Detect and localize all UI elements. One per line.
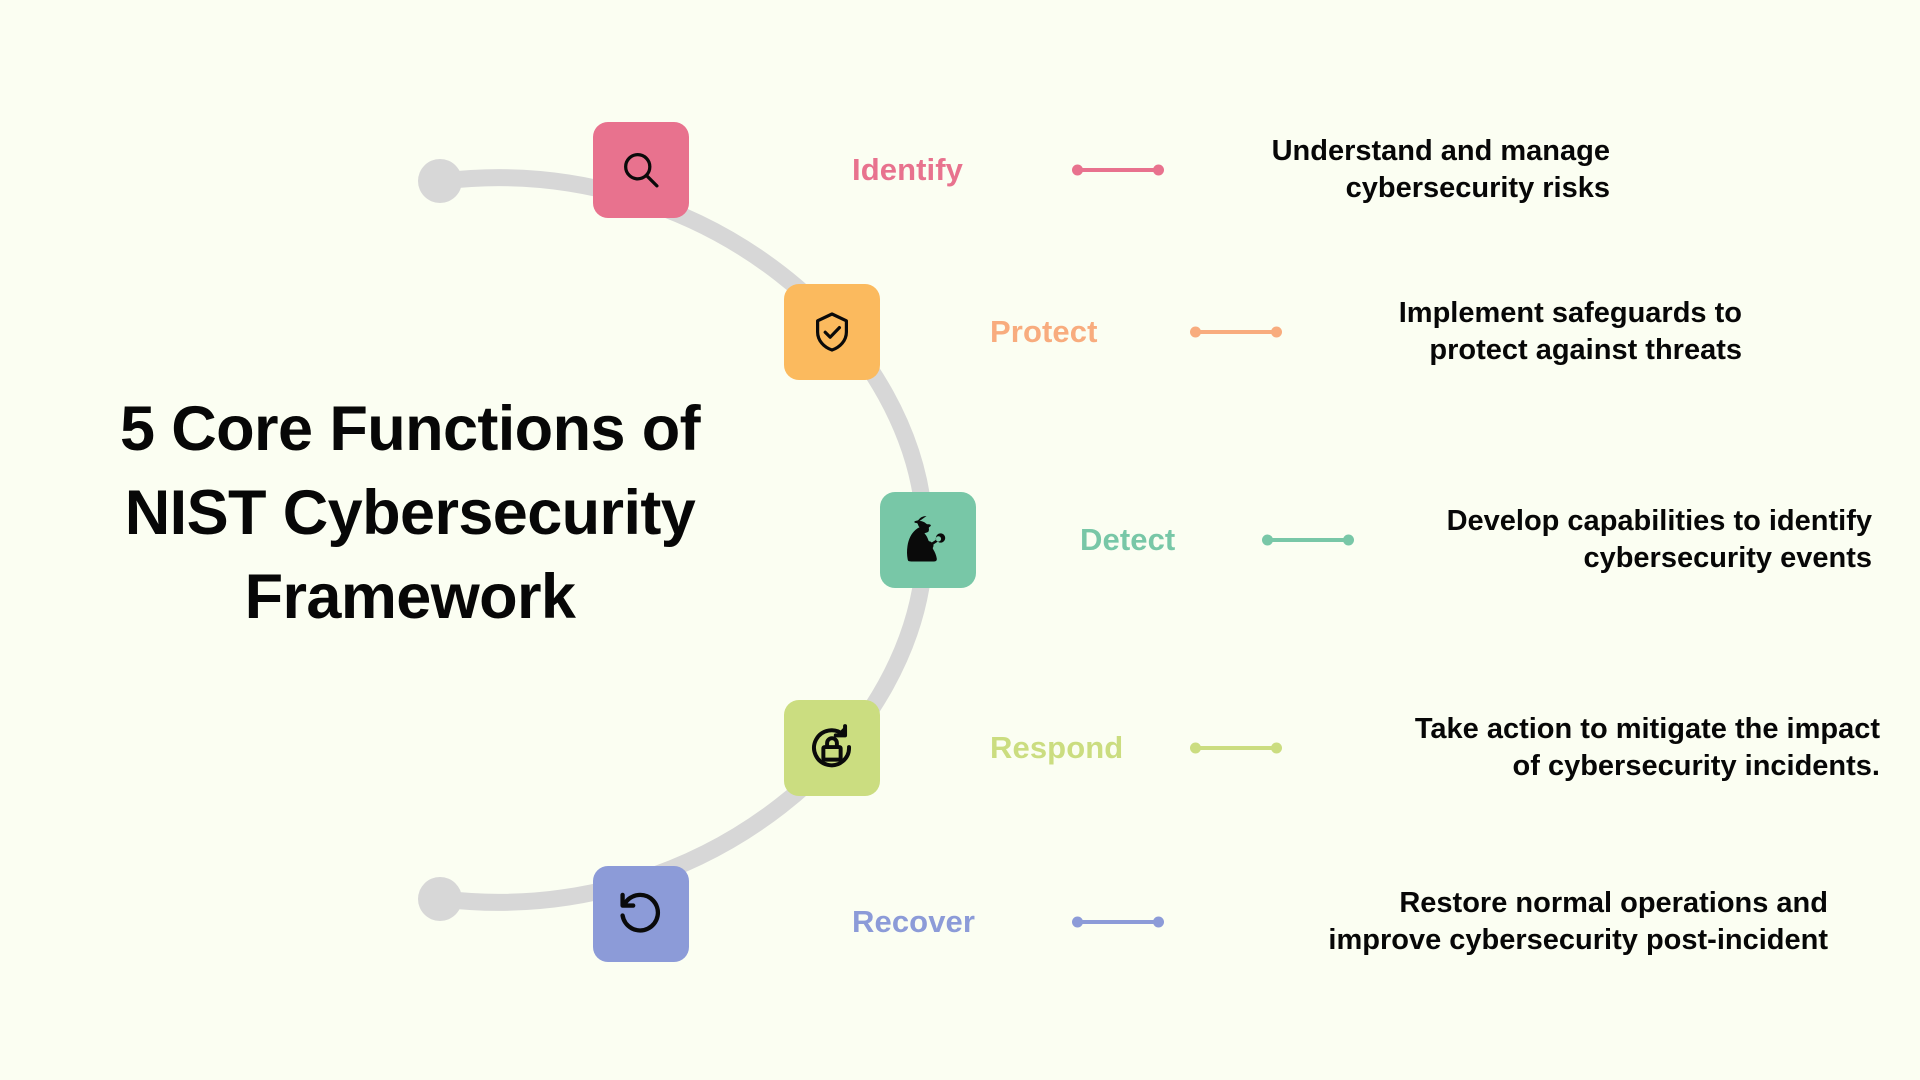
function-description-detect: Develop capabilities to identify cyberse…: [1447, 503, 1872, 577]
desc-line-2: cybersecurity events: [1447, 540, 1872, 577]
title-line-2: NIST Cybersecurity: [60, 472, 760, 556]
connector-recover: [1072, 915, 1164, 929]
function-description-recover: Restore normal operations and improve cy…: [1328, 885, 1828, 959]
connector-dot-left: [1190, 743, 1201, 754]
desc-line-1: Implement safeguards to: [1399, 295, 1742, 332]
arc-endpoint-top: [418, 159, 462, 203]
magnifying-glass-icon: [618, 147, 664, 193]
title-line-3: Framework: [60, 556, 760, 640]
connector-dot-left: [1262, 535, 1273, 546]
lock-refresh-icon: [804, 720, 860, 776]
desc-line-1: Understand and manage: [1272, 133, 1610, 170]
function-tile-respond[interactable]: [784, 700, 880, 796]
connector-bar: [1194, 330, 1278, 334]
desc-line-2: improve cybersecurity post-incident: [1328, 922, 1828, 959]
function-label-respond: Respond: [990, 730, 1123, 766]
connector-dot-right: [1343, 535, 1354, 546]
function-description-identify: Understand and manage cybersecurity risk…: [1272, 133, 1610, 207]
shield-check-icon: [808, 308, 856, 356]
connector-bar: [1194, 746, 1278, 750]
function-label-detect: Detect: [1080, 522, 1175, 558]
function-tile-protect[interactable]: [784, 284, 880, 380]
function-description-protect: Implement safeguards to protect against …: [1399, 295, 1742, 369]
connector-identify: [1072, 163, 1164, 177]
desc-line-2: protect against threats: [1399, 332, 1742, 369]
infographic-canvas: 5 Core Functions of NIST Cybersecurity F…: [0, 0, 1920, 1080]
title-line-1: 5 Core Functions of: [60, 388, 760, 472]
function-tile-detect[interactable]: [880, 492, 976, 588]
desc-line-2: cybersecurity risks: [1272, 170, 1610, 207]
connector-bar: [1076, 168, 1160, 172]
connector-dot-right: [1271, 327, 1282, 338]
function-label-recover: Recover: [852, 904, 975, 940]
connector-bar: [1076, 920, 1160, 924]
connector-dot-right: [1153, 165, 1164, 176]
desc-line-1: Take action to mitigate the impact: [1415, 711, 1880, 748]
connector-bar: [1266, 538, 1350, 542]
function-label-identify: Identify: [852, 152, 963, 188]
connector-protect: [1190, 325, 1282, 339]
connector-dot-left: [1072, 165, 1083, 176]
arc-endpoint-bottom: [418, 877, 462, 921]
connector-respond: [1190, 741, 1282, 755]
function-label-protect: Protect: [990, 314, 1098, 350]
function-tile-identify[interactable]: [593, 122, 689, 218]
connector-detect: [1262, 533, 1354, 547]
desc-line-2: of cybersecurity incidents.: [1415, 748, 1880, 785]
desc-line-1: Restore normal operations and: [1328, 885, 1828, 922]
connector-dot-left: [1190, 327, 1201, 338]
connector-dot-left: [1072, 917, 1083, 928]
function-tile-recover[interactable]: [593, 866, 689, 962]
connector-dot-right: [1153, 917, 1164, 928]
detective-icon: [897, 509, 959, 571]
desc-line-1: Develop capabilities to identify: [1447, 503, 1872, 540]
rotate-left-icon: [615, 888, 667, 940]
function-description-respond: Take action to mitigate the impact of cy…: [1415, 711, 1880, 785]
connector-dot-right: [1271, 743, 1282, 754]
page-title: 5 Core Functions of NIST Cybersecurity F…: [60, 388, 760, 639]
